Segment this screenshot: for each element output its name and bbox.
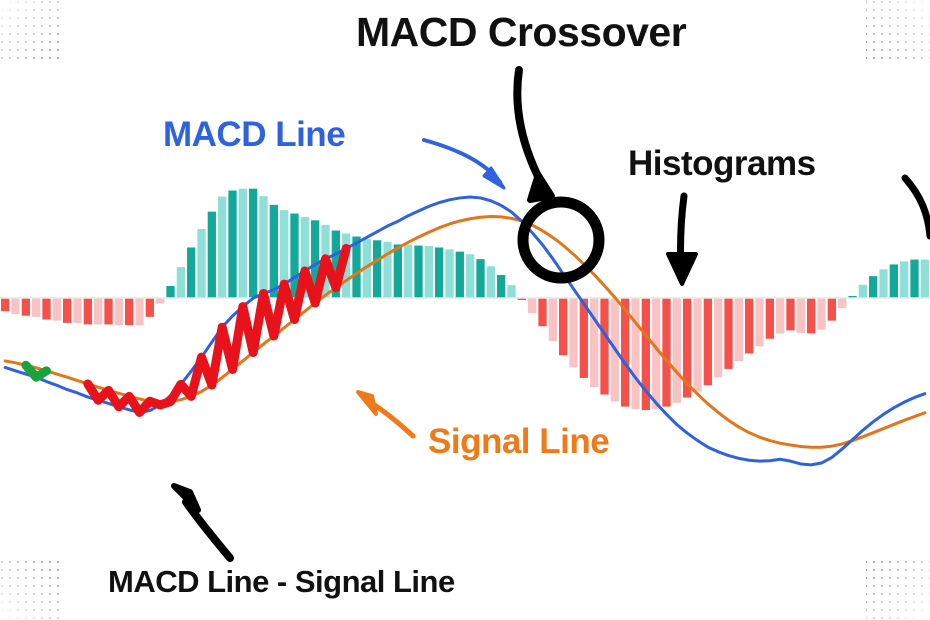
histogram-bar bbox=[693, 298, 701, 392]
histogram-bar bbox=[414, 246, 422, 298]
histogram-bar bbox=[714, 298, 722, 377]
histogram-bar bbox=[838, 298, 846, 308]
histogram-bar bbox=[42, 298, 50, 319]
histogram-bar bbox=[11, 298, 19, 314]
histogram-bar bbox=[84, 298, 92, 324]
histogram-bar bbox=[859, 285, 867, 298]
histogram-bar bbox=[73, 298, 81, 323]
histogram-bar bbox=[218, 197, 226, 298]
histogram-bar bbox=[879, 269, 887, 298]
histogram-bar bbox=[115, 298, 123, 325]
histogram-bar bbox=[249, 189, 257, 298]
histogram-bar bbox=[869, 276, 877, 298]
histogram-bar bbox=[239, 189, 247, 298]
histogram-bar bbox=[259, 196, 267, 298]
histogram-bar bbox=[487, 266, 495, 298]
histogram-bar bbox=[921, 260, 929, 298]
histogram-bar bbox=[156, 298, 164, 304]
histogram-bar bbox=[53, 298, 61, 321]
histogram-bar bbox=[445, 249, 453, 298]
histogram-bar bbox=[435, 247, 443, 298]
histogram-bar bbox=[32, 298, 40, 317]
histogram-bar bbox=[63, 298, 71, 323]
histogram-bar bbox=[135, 298, 143, 325]
annotation-signal-line-label: Signal Line bbox=[428, 424, 609, 459]
histogram-bar bbox=[704, 298, 712, 385]
histogram-bar bbox=[497, 275, 505, 298]
histogram-bar bbox=[735, 298, 743, 361]
histogram-bar bbox=[900, 261, 908, 298]
annotation-histograms-label: Histograms bbox=[628, 146, 816, 181]
infographic-canvas: MACD Crossover MACD Line Histograms Sign… bbox=[0, 0, 930, 620]
corner-dots-bottom-right-icon bbox=[866, 556, 930, 620]
histogram-bar bbox=[755, 298, 763, 346]
histogram-bar bbox=[662, 298, 670, 407]
histogram-bar bbox=[797, 298, 805, 333]
histogram-bar bbox=[786, 298, 794, 330]
histogram-bar bbox=[476, 259, 484, 298]
histogram-bar bbox=[425, 246, 433, 298]
histogram-bar bbox=[404, 244, 412, 298]
histogram-bar bbox=[228, 191, 236, 298]
histogram-bar bbox=[776, 298, 784, 333]
histogram-bar bbox=[559, 298, 567, 355]
histogram-bar bbox=[528, 298, 536, 313]
histogram-bar bbox=[187, 247, 195, 298]
histogram-bar bbox=[600, 298, 608, 395]
histogram-bar bbox=[549, 298, 557, 341]
histogram-bar bbox=[817, 298, 825, 330]
histogram-bar bbox=[456, 252, 464, 298]
histogram-bar bbox=[910, 260, 918, 298]
histogram-bar bbox=[270, 205, 278, 298]
histogram-bar bbox=[766, 298, 774, 339]
corner-dots-bottom-left-icon bbox=[0, 556, 64, 620]
histogram-bar bbox=[94, 298, 102, 324]
histogram-bar bbox=[394, 244, 402, 298]
histogram-bar bbox=[569, 298, 577, 367]
histogram-bar bbox=[673, 298, 681, 403]
histogram-bar bbox=[125, 298, 133, 325]
histogram-bar bbox=[828, 298, 836, 321]
annotation-macd-line-label: MACD Line bbox=[163, 117, 345, 152]
histogram-bar bbox=[166, 286, 174, 298]
annotation-difference-label: MACD Line - Signal Line bbox=[108, 566, 455, 597]
annotation-crossover-label: MACD Crossover bbox=[356, 12, 686, 53]
histogram-bar bbox=[1, 298, 9, 311]
histogram-bar bbox=[724, 298, 732, 369]
histogram-bar bbox=[177, 267, 185, 298]
histogram-bar bbox=[807, 298, 815, 333]
histogram-bar bbox=[890, 264, 898, 298]
histogram-bar bbox=[745, 298, 753, 353]
histogram-bar bbox=[146, 298, 154, 317]
histogram-bar bbox=[538, 298, 546, 326]
histogram-bar bbox=[466, 254, 474, 298]
histogram-bar bbox=[22, 298, 30, 316]
macd-chart bbox=[0, 0, 930, 620]
histogram-bar bbox=[631, 298, 639, 409]
histogram-bar bbox=[104, 298, 112, 324]
corner-dots-top-left-icon bbox=[0, 0, 64, 64]
histogram-bar bbox=[373, 240, 381, 298]
corner-dots-top-right-icon bbox=[866, 0, 930, 64]
histogram-bar bbox=[507, 285, 515, 298]
histogram-bar bbox=[208, 212, 216, 298]
histogram-bar bbox=[197, 229, 205, 298]
histogram-bar bbox=[590, 298, 598, 387]
histogram-bar bbox=[383, 242, 391, 298]
